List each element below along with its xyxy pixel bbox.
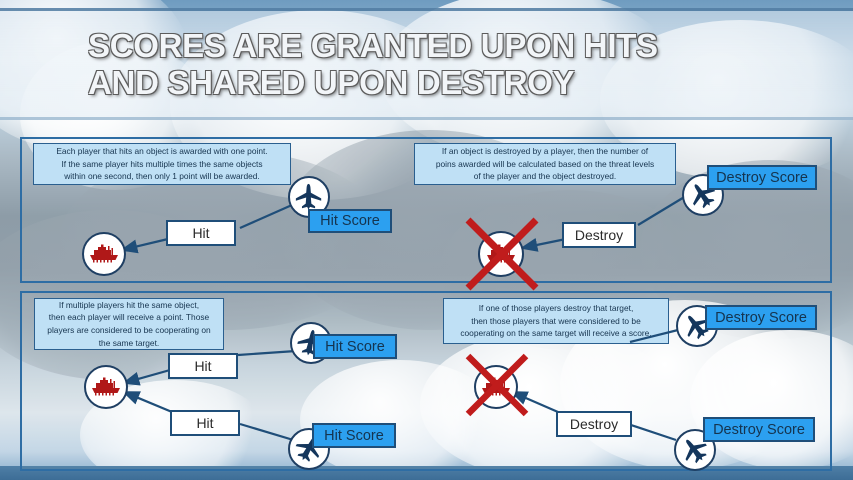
hit-score-badge-2[interactable]: Hit Score (312, 423, 396, 448)
destroy-rule-caption: If an object is destroyed by a player, t… (414, 143, 676, 185)
hit-score-badge[interactable]: Hit Score (308, 209, 392, 233)
hit-score-badge-1[interactable]: Hit Score (313, 334, 397, 359)
target-ship-node[interactable] (82, 232, 126, 276)
hit-rule-caption: Each player that hits an object is award… (33, 143, 291, 185)
cooperate-destroy-caption: If one of those players destroy that tar… (443, 298, 669, 344)
hit-label[interactable]: Hit (166, 220, 236, 246)
destroyed-ship-node[interactable] (478, 231, 524, 277)
ship-icon (88, 243, 120, 265)
jet-icon (294, 182, 324, 212)
destroyed-shared-ship-node[interactable] (474, 365, 518, 409)
destroy-score-badge[interactable]: Destroy Score (707, 165, 817, 190)
destroy-score-badge-1[interactable]: Destroy Score (705, 305, 817, 330)
destroy-score-badge-2[interactable]: Destroy Score (703, 417, 815, 442)
destroy-label[interactable]: Destroy (562, 222, 636, 248)
cooperate-hit-caption: If multiple players hit the same object,… (34, 298, 224, 350)
ship-icon (90, 376, 122, 398)
hit-label-1[interactable]: Hit (168, 353, 238, 379)
destroy-label-bottom[interactable]: Destroy (556, 411, 632, 437)
ship-icon (485, 243, 517, 265)
ship-icon (480, 376, 512, 398)
hit-label-2[interactable]: Hit (170, 410, 240, 436)
shared-target-ship-node[interactable] (84, 365, 128, 409)
slide-canvas: SCORES ARE GRANTED UPON HITS AND SHARED … (0, 0, 853, 480)
page-title: SCORES ARE GRANTED UPON HITS AND SHARED … (88, 28, 788, 102)
